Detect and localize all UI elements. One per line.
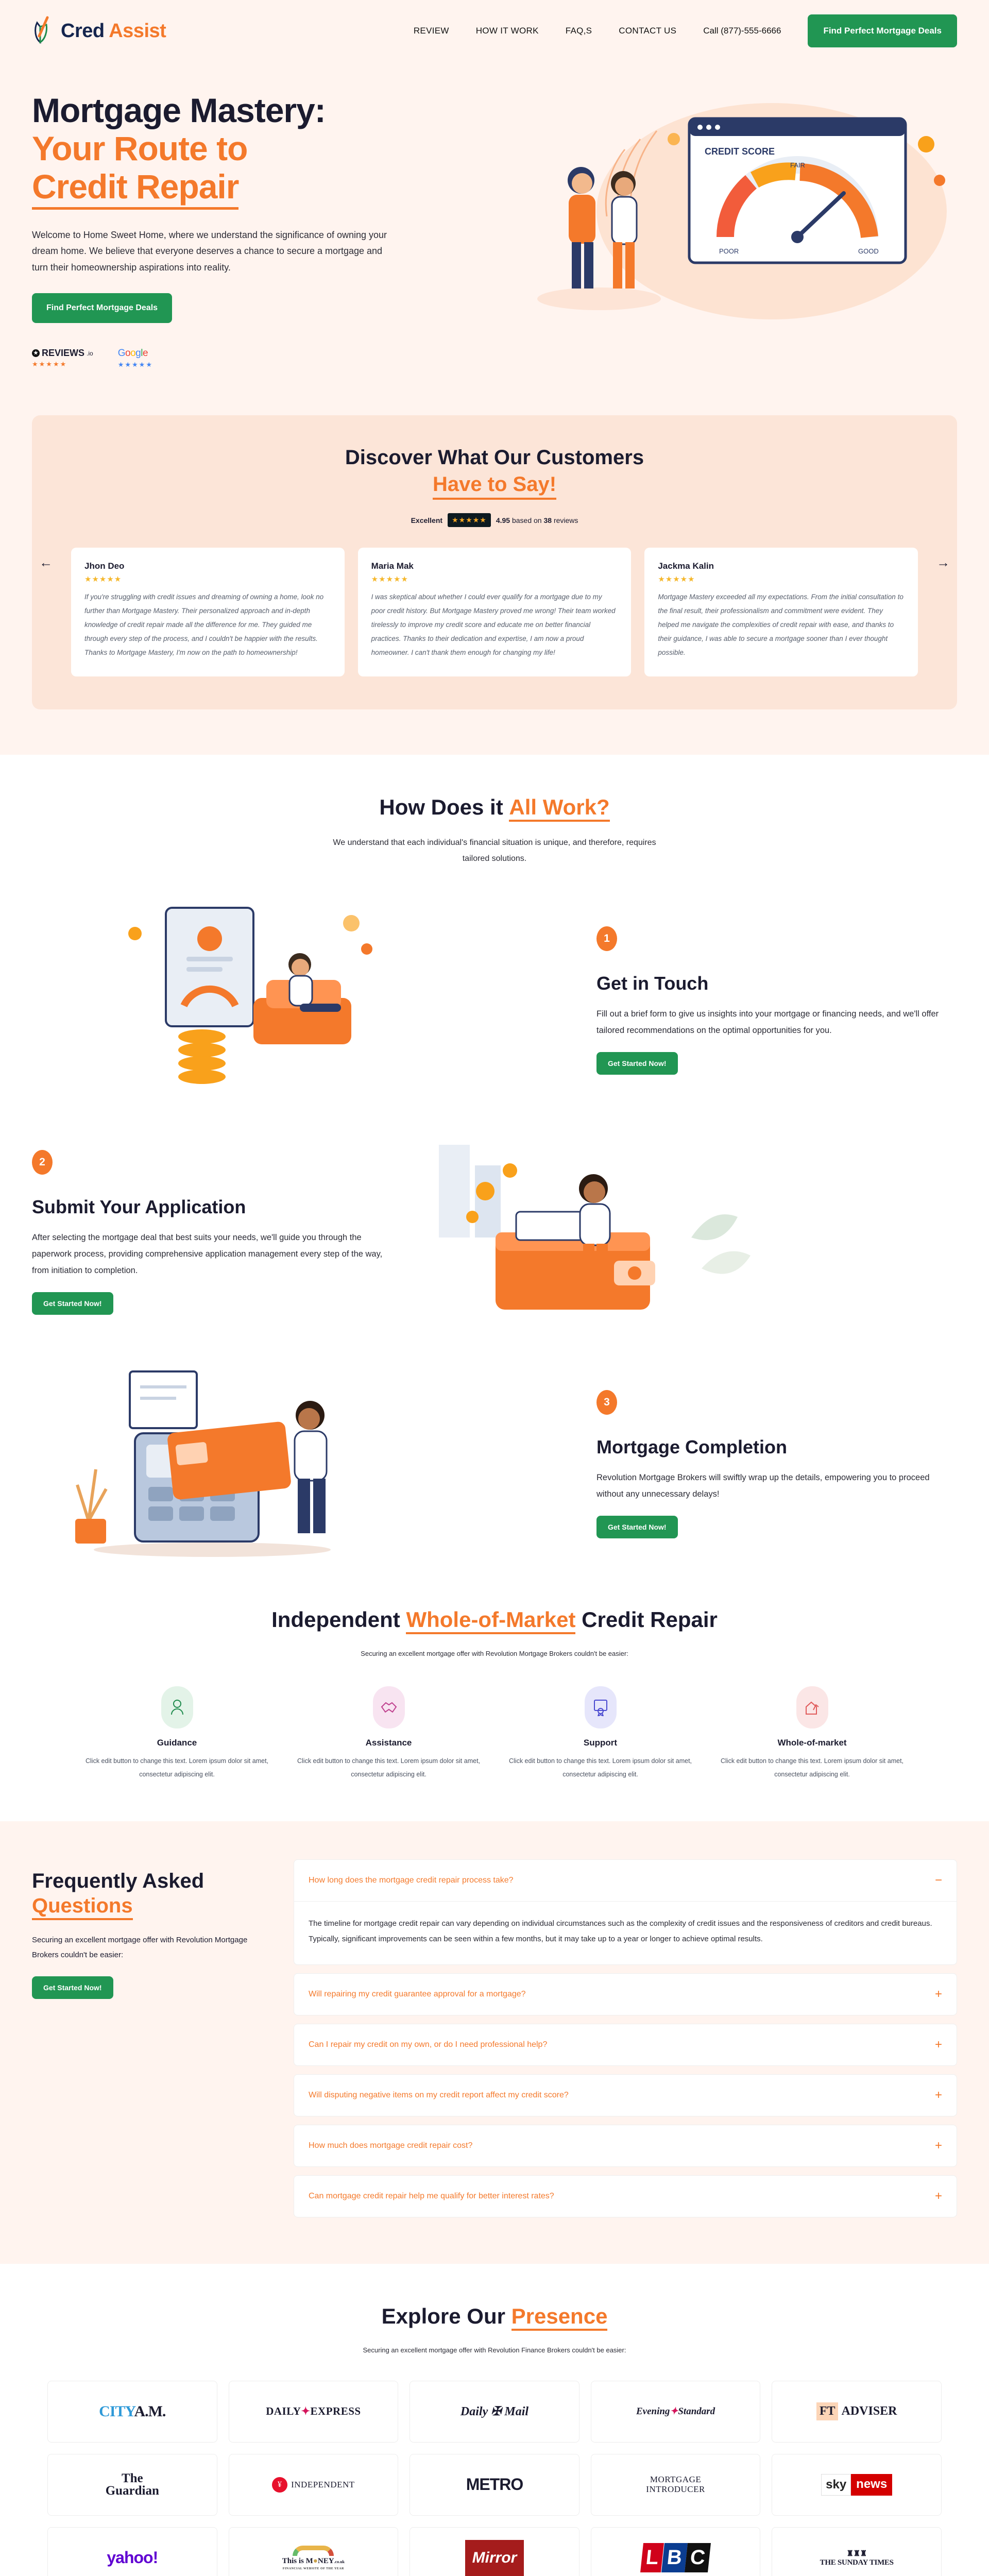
step-1-title: Get in Touch	[596, 973, 957, 994]
how-it-works-subtitle: We understand that each individual's fin…	[330, 835, 659, 867]
step-2-cta-button[interactable]: Get Started Now!	[32, 1292, 113, 1315]
hero-badges: ★REVIEWS.io ★★★★★ Google ★★★★★	[32, 348, 423, 369]
step-1-body: Fill out a brief form to give us insight…	[596, 1006, 957, 1039]
feature-whole-of-market-text: Click edit button to change this text. L…	[713, 1754, 911, 1782]
press-logo-sunday-times[interactable]: ♜♜♜THE SUNDAY TIMES	[772, 2527, 942, 2576]
hero-cta-button[interactable]: Find Perfect Mortgage Deals	[32, 293, 172, 323]
presence-title-accent: Presence	[511, 2304, 608, 2331]
logo-text-part2: Assist	[109, 20, 166, 42]
faq-question-text: How much does mortgage credit repair cos…	[309, 2141, 472, 2150]
header-cta-button[interactable]: Find Perfect Mortgage Deals	[808, 14, 957, 47]
faq-item: Can I repair my credit on my own, or do …	[294, 2024, 957, 2066]
google-logo-text: Google	[118, 348, 153, 359]
hero-section: Mortgage Mastery: Your Route to Credit R…	[0, 62, 989, 415]
rating-label: Excellent	[411, 516, 442, 524]
feature-assistance: Assistance Click edit button to change t…	[290, 1686, 487, 1782]
step-3-illustration	[32, 1366, 566, 1562]
how-it-works-title-accent: All Work?	[509, 795, 609, 822]
plus-icon[interactable]: +	[935, 2139, 942, 2153]
nav-item-how-it-work[interactable]: HOW IT WORK	[476, 26, 539, 36]
hero-illustration: CREDIT SCORE POOR FAIR GOOD	[504, 82, 957, 340]
reviews-io-badge[interactable]: ★REVIEWS.io ★★★★★	[32, 348, 93, 368]
hero-title-line3: Credit Repair	[32, 168, 238, 210]
step-3-body: Revolution Mortgage Brokers will swiftly…	[596, 1469, 957, 1502]
google-badge[interactable]: Google ★★★★★	[118, 348, 153, 369]
testimonials-title: Discover What Our Customers Have to Say!	[53, 444, 936, 500]
faq-title-line1: Frequently Asked	[32, 1870, 204, 1892]
feature-whole-of-market-title: Whole-of-market	[713, 1738, 911, 1748]
independent-subtitle: Securing an excellent mortgage offer wit…	[263, 1648, 726, 1660]
nav-item-faqs[interactable]: FAQ,S	[566, 26, 592, 36]
press-logo-sky-news[interactable]: skynews	[772, 2454, 942, 2516]
feature-assistance-title: Assistance	[290, 1738, 487, 1748]
plus-icon[interactable]: +	[935, 2088, 942, 2103]
faq-question[interactable]: Will disputing negative items on my cred…	[294, 2075, 957, 2116]
independent-title-accent: Whole-of-Market	[406, 1607, 575, 1634]
this-is-money-logo-icon: This is M●NEY.co.uk FINANCIAL WEBSITE OF…	[282, 2546, 345, 2570]
guardian-logo-icon: TheGuardian	[106, 2472, 159, 2497]
testimonial-cards: Jhon Deo ★★★★★ If you're struggling with…	[53, 548, 936, 676]
site-header: Cred Assist REVIEW HOW IT WORK FAQ,S CON…	[0, 0, 989, 62]
independent-title-post: Credit Repair	[575, 1607, 717, 1632]
feature-support-text: Click edit button to change this text. L…	[502, 1754, 699, 1782]
lbc-logo-icon: LBC	[642, 2543, 709, 2572]
independent-title: Independent Whole-of-Market Credit Repai…	[32, 1607, 957, 1634]
daily-express-logo-icon: DAILY✦EXPRESS	[266, 2405, 361, 2418]
faq-section: Frequently Asked Questions Securing an e…	[0, 1821, 989, 2264]
step-2-title: Submit Your Application	[32, 1196, 393, 1218]
press-logo-evening-standard[interactable]: Evening✦Standard	[591, 2381, 761, 2443]
evening-standard-logo-icon: Evening✦Standard	[636, 2405, 715, 2417]
presence-title: Explore Our Presence	[32, 2304, 957, 2331]
svg-text:GOOD: GOOD	[858, 247, 879, 255]
hero-title: Mortgage Mastery: Your Route to Credit R…	[32, 92, 423, 210]
testimonial-text: I was skeptical about whether I could ev…	[371, 590, 618, 659]
cred-assist-logo-icon	[32, 15, 56, 46]
testimonial-stars-icon: ★★★★★	[658, 574, 905, 584]
rating-count: 38	[543, 516, 552, 524]
faq-item: Will disputing negative items on my cred…	[294, 2074, 957, 2116]
step-1: 1 Get in Touch Fill out a brief form to …	[32, 903, 957, 1098]
logo[interactable]: Cred Assist	[32, 15, 166, 46]
faq-answer: The timeline for mortgage credit repair …	[294, 1901, 957, 1964]
testimonial-name: Jackma Kalin	[658, 561, 905, 571]
hero-title-line1: Mortgage Mastery:	[32, 91, 326, 129]
faq-question[interactable]: Will repairing my credit guarantee appro…	[294, 1974, 957, 2015]
plus-icon[interactable]: +	[935, 1987, 942, 2002]
this-is-money-sub: FINANCIAL WEBSITE OF THE YEAR	[282, 2567, 345, 2570]
testimonials-title-line2: Have to Say!	[433, 471, 556, 500]
press-logo-the-guardian[interactable]: TheGuardian	[47, 2454, 217, 2516]
press-logo-grid: CITYA.M. DAILY✦EXPRESS Daily ✠ Mail Even…	[32, 2381, 957, 2576]
testimonial-card: Maria Mak ★★★★★ I was skeptical about wh…	[358, 548, 632, 676]
faq-title-line2: Questions	[32, 1893, 133, 1920]
feature-guidance-text: Click edit button to change this text. L…	[78, 1754, 276, 1782]
step-2-illustration	[423, 1134, 957, 1330]
sky-news-logo-icon: skynews	[821, 2474, 892, 2496]
step-1-number: 1	[596, 926, 617, 951]
how-it-works-title: How Does it All Work?	[32, 795, 957, 822]
reviews-io-stars: ★★★★★	[32, 360, 93, 368]
step-3-title: Mortgage Completion	[596, 1436, 957, 1458]
testimonials-title-line1: Discover What Our Customers	[345, 446, 644, 469]
press-logo-daily-mail[interactable]: Daily ✠ Mail	[410, 2381, 579, 2443]
faq-item: How long does the mortgage credit repair…	[294, 1859, 957, 1965]
logo-text-part1: Cred	[61, 20, 109, 42]
press-logo-metro[interactable]: METRO	[410, 2454, 579, 2516]
faq-question-text: How long does the mortgage credit repair…	[309, 1876, 514, 1885]
step-2-number: 2	[32, 1150, 53, 1175]
sunday-times-logo-icon: ♜♜♜THE SUNDAY TIMES	[820, 2549, 894, 2567]
minus-icon[interactable]: −	[935, 1873, 942, 1888]
how-it-works-title-plain: How Does it	[379, 795, 509, 819]
press-logo-independent[interactable]: ¥INDEPENDENT	[229, 2454, 399, 2516]
faq-question[interactable]: Can mortgage credit repair help me quali…	[294, 2176, 957, 2217]
rating-word: reviews	[554, 516, 578, 524]
faq-question-text: Can mortgage credit repair help me quali…	[309, 2192, 554, 2201]
press-logo-mortgage-introducer[interactable]: MORTGAGEINTRODUCER	[591, 2454, 761, 2516]
reviews-io-name: REVIEWS	[42, 348, 84, 359]
house-growth-icon	[804, 1699, 821, 1716]
logo-text: Cred Assist	[61, 20, 166, 42]
press-logo-ft-adviser[interactable]: FTADVISER	[772, 2381, 942, 2443]
testimonial-stars-icon: ★★★★★	[84, 574, 331, 584]
independent-logo-icon: ¥INDEPENDENT	[272, 2477, 355, 2493]
press-logo-cityam[interactable]: CITYA.M.	[47, 2381, 217, 2443]
google-stars: ★★★★★	[118, 361, 153, 369]
how-it-works-section: How Does it All Work? We understand that…	[0, 755, 989, 1602]
metro-logo-icon: METRO	[466, 2475, 523, 2494]
testimonial-name: Jhon Deo	[84, 561, 331, 571]
press-logo-this-is-money[interactable]: This is M●NEY.co.uk FINANCIAL WEBSITE OF…	[229, 2527, 399, 2576]
feature-guidance-title: Guidance	[78, 1738, 276, 1748]
independent-title-pre: Independent	[271, 1607, 406, 1632]
faq-question[interactable]: How long does the mortgage credit repair…	[294, 1860, 957, 1901]
svg-text:CREDIT SCORE: CREDIT SCORE	[705, 146, 775, 157]
independent-section: Independent Whole-of-Market Credit Repai…	[0, 1602, 989, 1821]
rating-score-value: 4.95	[496, 516, 510, 524]
feature-guidance: Guidance Click edit button to change thi…	[78, 1686, 276, 1782]
step-3: 3 Mortgage Completion Revolution Mortgag…	[32, 1366, 957, 1562]
faq-item: How much does mortgage credit repair cos…	[294, 2125, 957, 2167]
faq-question-text: Can I repair my credit on my own, or do …	[309, 2040, 547, 2049]
feature-support: Support Click edit button to change this…	[502, 1686, 699, 1782]
feature-whole-of-market: Whole-of-market Click edit button to cha…	[713, 1686, 911, 1782]
carousel-prev-arrow-icon[interactable]: ←	[39, 554, 53, 570]
carousel-next-arrow-icon[interactable]: →	[936, 554, 950, 570]
presence-subtitle: Securing an excellent mortgage offer wit…	[263, 2344, 726, 2357]
faq-question-text: Will repairing my credit guarantee appro…	[309, 1990, 526, 1999]
rating-summary: Excellent ★★★★★ 4.95 based on 38 reviews	[53, 513, 936, 527]
testimonial-stars-icon: ★★★★★	[371, 574, 618, 584]
faq-item: Can mortgage credit repair help me quali…	[294, 2175, 957, 2217]
nav-item-review[interactable]: REVIEW	[414, 26, 449, 36]
testimonial-card: Jhon Deo ★★★★★ If you're struggling with…	[71, 548, 345, 676]
testimonial-name: Maria Mak	[371, 561, 618, 571]
feature-assistance-text: Click edit button to change this text. L…	[290, 1754, 487, 1782]
rating-stars-icon: ★★★★★	[448, 513, 491, 527]
svg-text:POOR: POOR	[719, 247, 739, 255]
hero-content: Mortgage Mastery: Your Route to Credit R…	[32, 72, 423, 369]
faq-question[interactable]: How much does mortgage credit repair cos…	[294, 2125, 957, 2166]
step-2-body: After selecting the mortgage deal that b…	[32, 1229, 393, 1279]
handshake-icon	[380, 1700, 398, 1715]
person-icon	[169, 1699, 185, 1716]
faq-item: Will repairing my credit guarantee appro…	[294, 1973, 957, 2015]
testimonial-card: Jackma Kalin ★★★★★ Mortgage Mastery exce…	[644, 548, 918, 676]
step-3-cta-button[interactable]: Get Started Now!	[596, 1516, 678, 1538]
feature-support-title: Support	[502, 1738, 699, 1748]
svg-text:FAIR: FAIR	[790, 161, 805, 169]
faq-cta-button[interactable]: Get Started Now!	[32, 1976, 113, 1999]
faq-question[interactable]: Can I repair my credit on my own, or do …	[294, 2024, 957, 2065]
hero-title-line2: Your Route to	[32, 130, 423, 168]
step-2: 2 Submit Your Application After selectin…	[32, 1134, 957, 1330]
yahoo-logo-icon: yahoo!	[107, 2548, 158, 2567]
testimonials-section: Discover What Our Customers Have to Say!…	[0, 415, 989, 755]
step-3-number: 3	[596, 1390, 617, 1415]
presence-title-plain: Explore Our	[382, 2304, 511, 2328]
daily-mail-logo-icon: Daily ✠ Mail	[461, 2404, 528, 2419]
press-logo-mirror[interactable]: Mirror	[410, 2527, 579, 2576]
faq-title: Frequently Asked Questions	[32, 1869, 269, 1920]
plus-icon[interactable]: +	[935, 2189, 942, 2204]
faq-question-text: Will disputing negative items on my cred…	[309, 2091, 569, 2100]
presence-section: Explore Our Presence Securing an excelle…	[0, 2264, 989, 2576]
main-nav: REVIEW HOW IT WORK FAQ,S CONTACT US Call…	[414, 14, 957, 47]
ft-adviser-logo-icon: FTADVISER	[816, 2402, 897, 2420]
testimonial-text: If you're struggling with credit issues …	[84, 590, 331, 659]
reviews-star-icon: ★	[32, 349, 40, 357]
step-1-cta-button[interactable]: Get Started Now!	[596, 1052, 678, 1075]
cityam-logo-icon: CITYA.M.	[99, 2403, 165, 2420]
reviews-io-suffix: .io	[87, 350, 93, 357]
press-logo-lbc[interactable]: LBC	[591, 2527, 761, 2576]
feature-list: Guidance Click edit button to change thi…	[32, 1686, 957, 1782]
rating-score-text: 4.95 based on 38 reviews	[496, 516, 578, 524]
plus-icon[interactable]: +	[935, 2038, 942, 2052]
press-logo-daily-express[interactable]: DAILY✦EXPRESS	[229, 2381, 399, 2443]
header-phone[interactable]: Call (877)-555-6666	[703, 26, 781, 36]
press-logo-yahoo[interactable]: yahoo!	[47, 2527, 217, 2576]
nav-item-contact-us[interactable]: CONTACT US	[619, 26, 676, 36]
mirror-logo-icon: Mirror	[465, 2540, 524, 2576]
faq-accordion: How long does the mortgage credit repair…	[294, 1859, 957, 2226]
mortgage-introducer-logo-icon: MORTGAGEINTRODUCER	[646, 2475, 705, 2494]
testimonial-text: Mortgage Mastery exceeded all my expecta…	[658, 590, 905, 659]
rating-suffix: based on	[512, 516, 542, 524]
hero-body: Welcome to Home Sweet Home, where we und…	[32, 227, 393, 276]
step-1-illustration	[32, 903, 566, 1098]
certificate-icon	[593, 1699, 608, 1716]
faq-subtitle: Securing an excellent mortgage offer wit…	[32, 1933, 269, 1963]
